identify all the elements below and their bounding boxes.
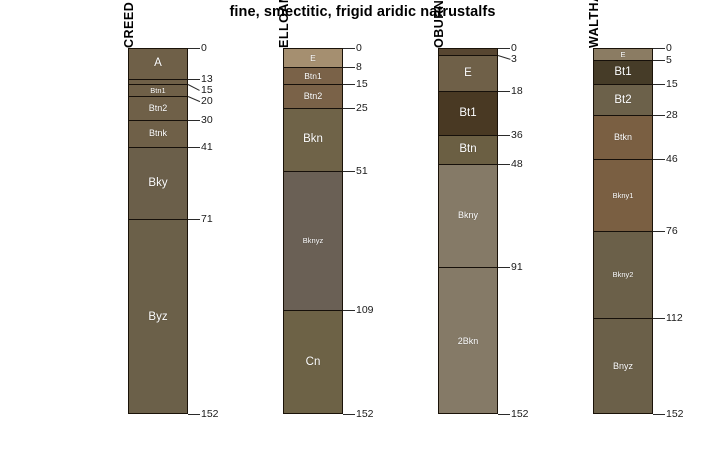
horizon-label: Bkny bbox=[458, 211, 478, 220]
tick-leader-line bbox=[498, 414, 510, 415]
horizon-label: Btnk bbox=[149, 129, 167, 138]
profile-name-label: CREED bbox=[122, 2, 136, 48]
depth-tick-label: 0 bbox=[511, 43, 517, 54]
horizon-label: Bknyz bbox=[303, 237, 323, 245]
soil-profile-waltham: WALTHAMEBt1Bt2BtknBkny1Bkny2Bnyz05152846… bbox=[553, 0, 725, 450]
tick-leader-line bbox=[498, 55, 510, 60]
depth-tick-label: 41 bbox=[201, 142, 213, 153]
tick-leader-line bbox=[343, 310, 355, 311]
horizon-bt1[interactable]: Bt1 bbox=[594, 61, 652, 85]
tick-leader-line bbox=[188, 48, 200, 49]
tick-leader-line bbox=[188, 414, 200, 415]
tick-leader-line bbox=[343, 84, 355, 85]
horizon-label: Btn1 bbox=[150, 87, 165, 95]
profile-name-label: ELLOAM bbox=[277, 0, 291, 48]
depth-tick-label: 152 bbox=[511, 409, 529, 420]
horizon-label: Bnyz bbox=[613, 362, 633, 371]
depth-tick-label: 15 bbox=[666, 79, 678, 90]
tick-leader-line bbox=[653, 414, 665, 415]
tick-leader-line bbox=[188, 219, 200, 220]
depth-tick-label: 25 bbox=[356, 103, 368, 114]
horizon-bt2[interactable]: Bt2 bbox=[594, 85, 652, 116]
tick-leader-line bbox=[343, 108, 355, 109]
tick-leader-line bbox=[498, 267, 510, 268]
horizon-label: Btn2 bbox=[149, 104, 168, 113]
depth-tick-label: 0 bbox=[666, 43, 672, 54]
horizon-label: Btn1 bbox=[304, 72, 322, 81]
depth-tick-label: 48 bbox=[511, 159, 523, 170]
depth-tick-label: 71 bbox=[201, 214, 213, 225]
horizon-label: Bky bbox=[148, 178, 167, 190]
horizon-btn2[interactable]: Btn2 bbox=[129, 97, 187, 121]
depth-tick-label: 28 bbox=[666, 110, 678, 121]
tick-leader-line bbox=[653, 48, 665, 49]
tick-leader-line bbox=[498, 164, 510, 165]
profile-name-label: WALTHAM bbox=[587, 0, 601, 48]
horizon-bkny[interactable]: Bkny bbox=[439, 165, 497, 269]
horizon-label: Cn bbox=[306, 357, 321, 369]
horizon-btn1[interactable]: Btn1 bbox=[284, 68, 342, 85]
horizon-label: E bbox=[310, 54, 316, 63]
depth-tick-label: 3 bbox=[511, 54, 517, 65]
horizon-label: Byz bbox=[148, 312, 167, 324]
horizon-label: Bkn bbox=[303, 134, 323, 146]
horizon-a1[interactable]: A1 bbox=[439, 49, 497, 56]
horizon-btkn[interactable]: Btkn bbox=[594, 116, 652, 159]
tick-leader-line bbox=[653, 159, 665, 160]
horizon-stack[interactable]: AEBtn1Btn2BtnkBkyByz bbox=[128, 48, 188, 414]
tick-leader-line bbox=[188, 79, 200, 80]
depth-axis: 0515284676112152 bbox=[653, 0, 713, 450]
horizon-btn1[interactable]: Btn1 bbox=[129, 85, 187, 97]
horizon-bkny1[interactable]: Bkny1 bbox=[594, 160, 652, 232]
tick-leader-line bbox=[188, 96, 200, 102]
depth-tick-label: 20 bbox=[201, 96, 213, 107]
horizon-stack[interactable]: A1EBt1BtnBkny2Bkn bbox=[438, 48, 498, 414]
horizon-stack[interactable]: EBtn1Btn2BknBknyzCn bbox=[283, 48, 343, 414]
depth-tick-label: 112 bbox=[666, 313, 683, 324]
horizon-2bkn[interactable]: 2Bkn bbox=[439, 268, 497, 414]
tick-leader-line bbox=[653, 84, 665, 85]
tick-leader-line bbox=[343, 67, 355, 68]
horizon-label: A bbox=[154, 58, 162, 70]
horizon-label: 2Bkn bbox=[458, 337, 479, 346]
depth-tick-label: 51 bbox=[356, 166, 368, 177]
depth-tick-label: 18 bbox=[511, 86, 523, 97]
horizon-label: Bkny1 bbox=[613, 192, 634, 200]
tick-leader-line bbox=[498, 91, 510, 92]
depth-tick-label: 30 bbox=[201, 115, 213, 126]
depth-tick-label: 36 bbox=[511, 130, 523, 141]
depth-tick-label: 152 bbox=[356, 409, 374, 420]
horizon-cn[interactable]: Cn bbox=[284, 311, 342, 414]
depth-axis: 08152551109152 bbox=[343, 0, 403, 450]
horizon-label: Bt2 bbox=[614, 95, 631, 107]
tick-leader-line bbox=[653, 115, 665, 116]
depth-tick-label: 13 bbox=[201, 74, 213, 85]
tick-leader-line bbox=[343, 171, 355, 172]
tick-leader-line bbox=[653, 231, 665, 232]
depth-tick-label: 76 bbox=[666, 226, 678, 237]
depth-tick-label: 46 bbox=[666, 154, 678, 165]
horizon-e[interactable]: E bbox=[284, 49, 342, 68]
depth-tick-label: 152 bbox=[666, 409, 684, 420]
horizon-bky[interactable]: Bky bbox=[129, 148, 187, 220]
horizon-bt1[interactable]: Bt1 bbox=[439, 92, 497, 135]
horizon-byz[interactable]: Byz bbox=[129, 220, 187, 414]
tick-leader-line bbox=[343, 414, 355, 415]
depth-tick-label: 15 bbox=[201, 85, 213, 96]
horizon-label: Bt1 bbox=[459, 108, 476, 120]
horizon-bkny2[interactable]: Bkny2 bbox=[594, 232, 652, 319]
horizon-label: Bkny2 bbox=[613, 271, 634, 279]
horizon-label: Btn2 bbox=[304, 92, 323, 101]
horizon-e[interactable]: E bbox=[439, 56, 497, 92]
horizon-stack[interactable]: EBt1Bt2BtknBkny1Bkny2Bnyz bbox=[593, 48, 653, 414]
depth-tick-label: 0 bbox=[201, 43, 207, 54]
horizon-btnk[interactable]: Btnk bbox=[129, 121, 187, 147]
horizon-btn[interactable]: Btn bbox=[439, 136, 497, 165]
depth-tick-label: 109 bbox=[356, 305, 374, 316]
tick-leader-line bbox=[498, 48, 510, 49]
tick-leader-line bbox=[653, 60, 665, 61]
depth-tick-label: 0 bbox=[356, 43, 362, 54]
depth-tick-label: 5 bbox=[666, 55, 672, 66]
horizon-label: E bbox=[620, 51, 625, 59]
tick-leader-line bbox=[188, 120, 200, 121]
horizon-label: Bt1 bbox=[614, 67, 631, 79]
depth-axis: 0318364891152 bbox=[498, 0, 558, 450]
profile-name-label: OBURN bbox=[432, 0, 446, 48]
horizon-bkn[interactable]: Bkn bbox=[284, 109, 342, 172]
horizon-a[interactable]: A bbox=[129, 49, 187, 80]
tick-leader-line bbox=[343, 48, 355, 49]
horizon-bknyz[interactable]: Bknyz bbox=[284, 172, 342, 312]
depth-tick-label: 8 bbox=[356, 62, 362, 73]
horizon-label: E bbox=[464, 68, 472, 80]
horizon-bnyz[interactable]: Bnyz bbox=[594, 319, 652, 414]
horizon-label: Btkn bbox=[614, 133, 632, 142]
depth-tick-label: 91 bbox=[511, 262, 523, 273]
depth-axis: 0131520304171152 bbox=[188, 0, 248, 450]
tick-leader-line bbox=[653, 318, 665, 319]
depth-tick-label: 152 bbox=[201, 409, 219, 420]
horizon-label: Btn bbox=[459, 144, 476, 156]
horizon-e[interactable]: E bbox=[594, 49, 652, 61]
tick-leader-line bbox=[188, 84, 200, 91]
horizon-btn2[interactable]: Btn2 bbox=[284, 85, 342, 109]
depth-tick-label: 15 bbox=[356, 79, 368, 90]
tick-leader-line bbox=[188, 147, 200, 148]
tick-leader-line bbox=[498, 135, 510, 136]
soil-profile-plot: fine, smectitic, frigid aridic natrustal… bbox=[0, 0, 725, 450]
